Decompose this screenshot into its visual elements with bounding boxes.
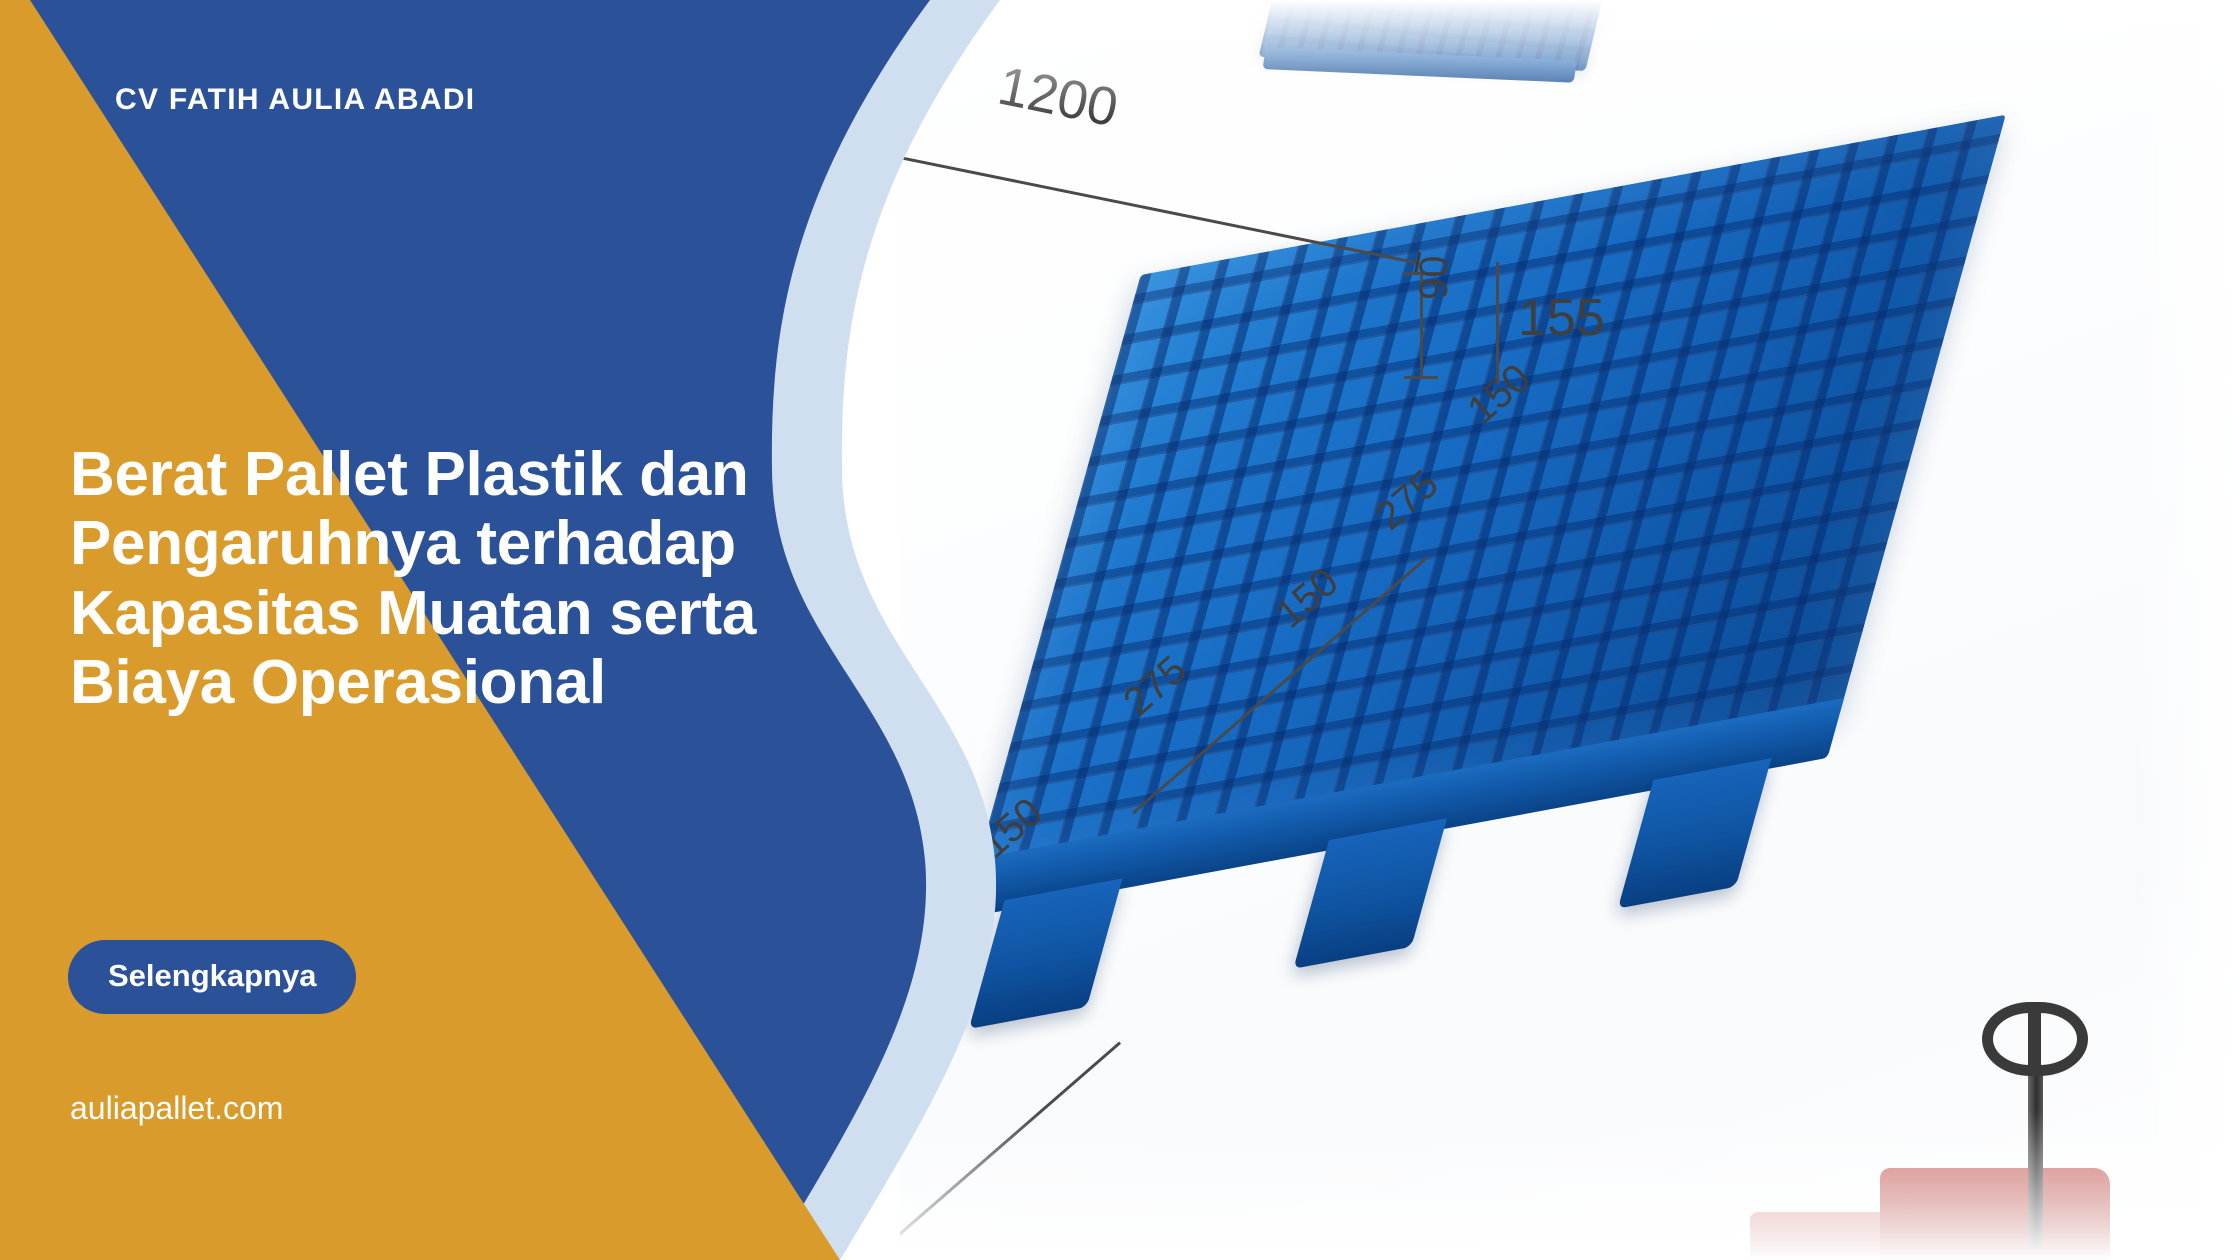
headline-line-1: Berat Pallet Plastik dan <box>70 440 1030 509</box>
headline-line-2: Pengaruhnya terhadap <box>70 509 1030 578</box>
photo-fade-right <box>2130 0 2240 1260</box>
page-title: Berat Pallet Plastik dan Pengaruhnya ter… <box>70 440 1030 718</box>
dim-line-90-cap2 <box>1404 376 1438 379</box>
selengkapnya-button[interactable]: Selengkapnya <box>68 940 356 1014</box>
banner-canvas: 1200 155 90 150 275 150 275 150 <box>0 0 2240 1260</box>
headline-line-4: Biaya Operasional <box>70 648 1030 717</box>
pallet-jack-crossbar <box>2028 1010 2041 1072</box>
headline-line-3: Kapasitas Muatan serta <box>70 579 1030 648</box>
dim-label-90: 90 <box>1412 256 1457 301</box>
banner-content: CV FATIH AULIA ABADI Berat Pallet Plasti… <box>0 0 1120 1260</box>
dim-label-155: 155 <box>1518 288 1605 348</box>
brand-name: CV FATIH AULIA ABADI <box>115 83 475 117</box>
website-url: auliapallet.com <box>70 1090 283 1127</box>
